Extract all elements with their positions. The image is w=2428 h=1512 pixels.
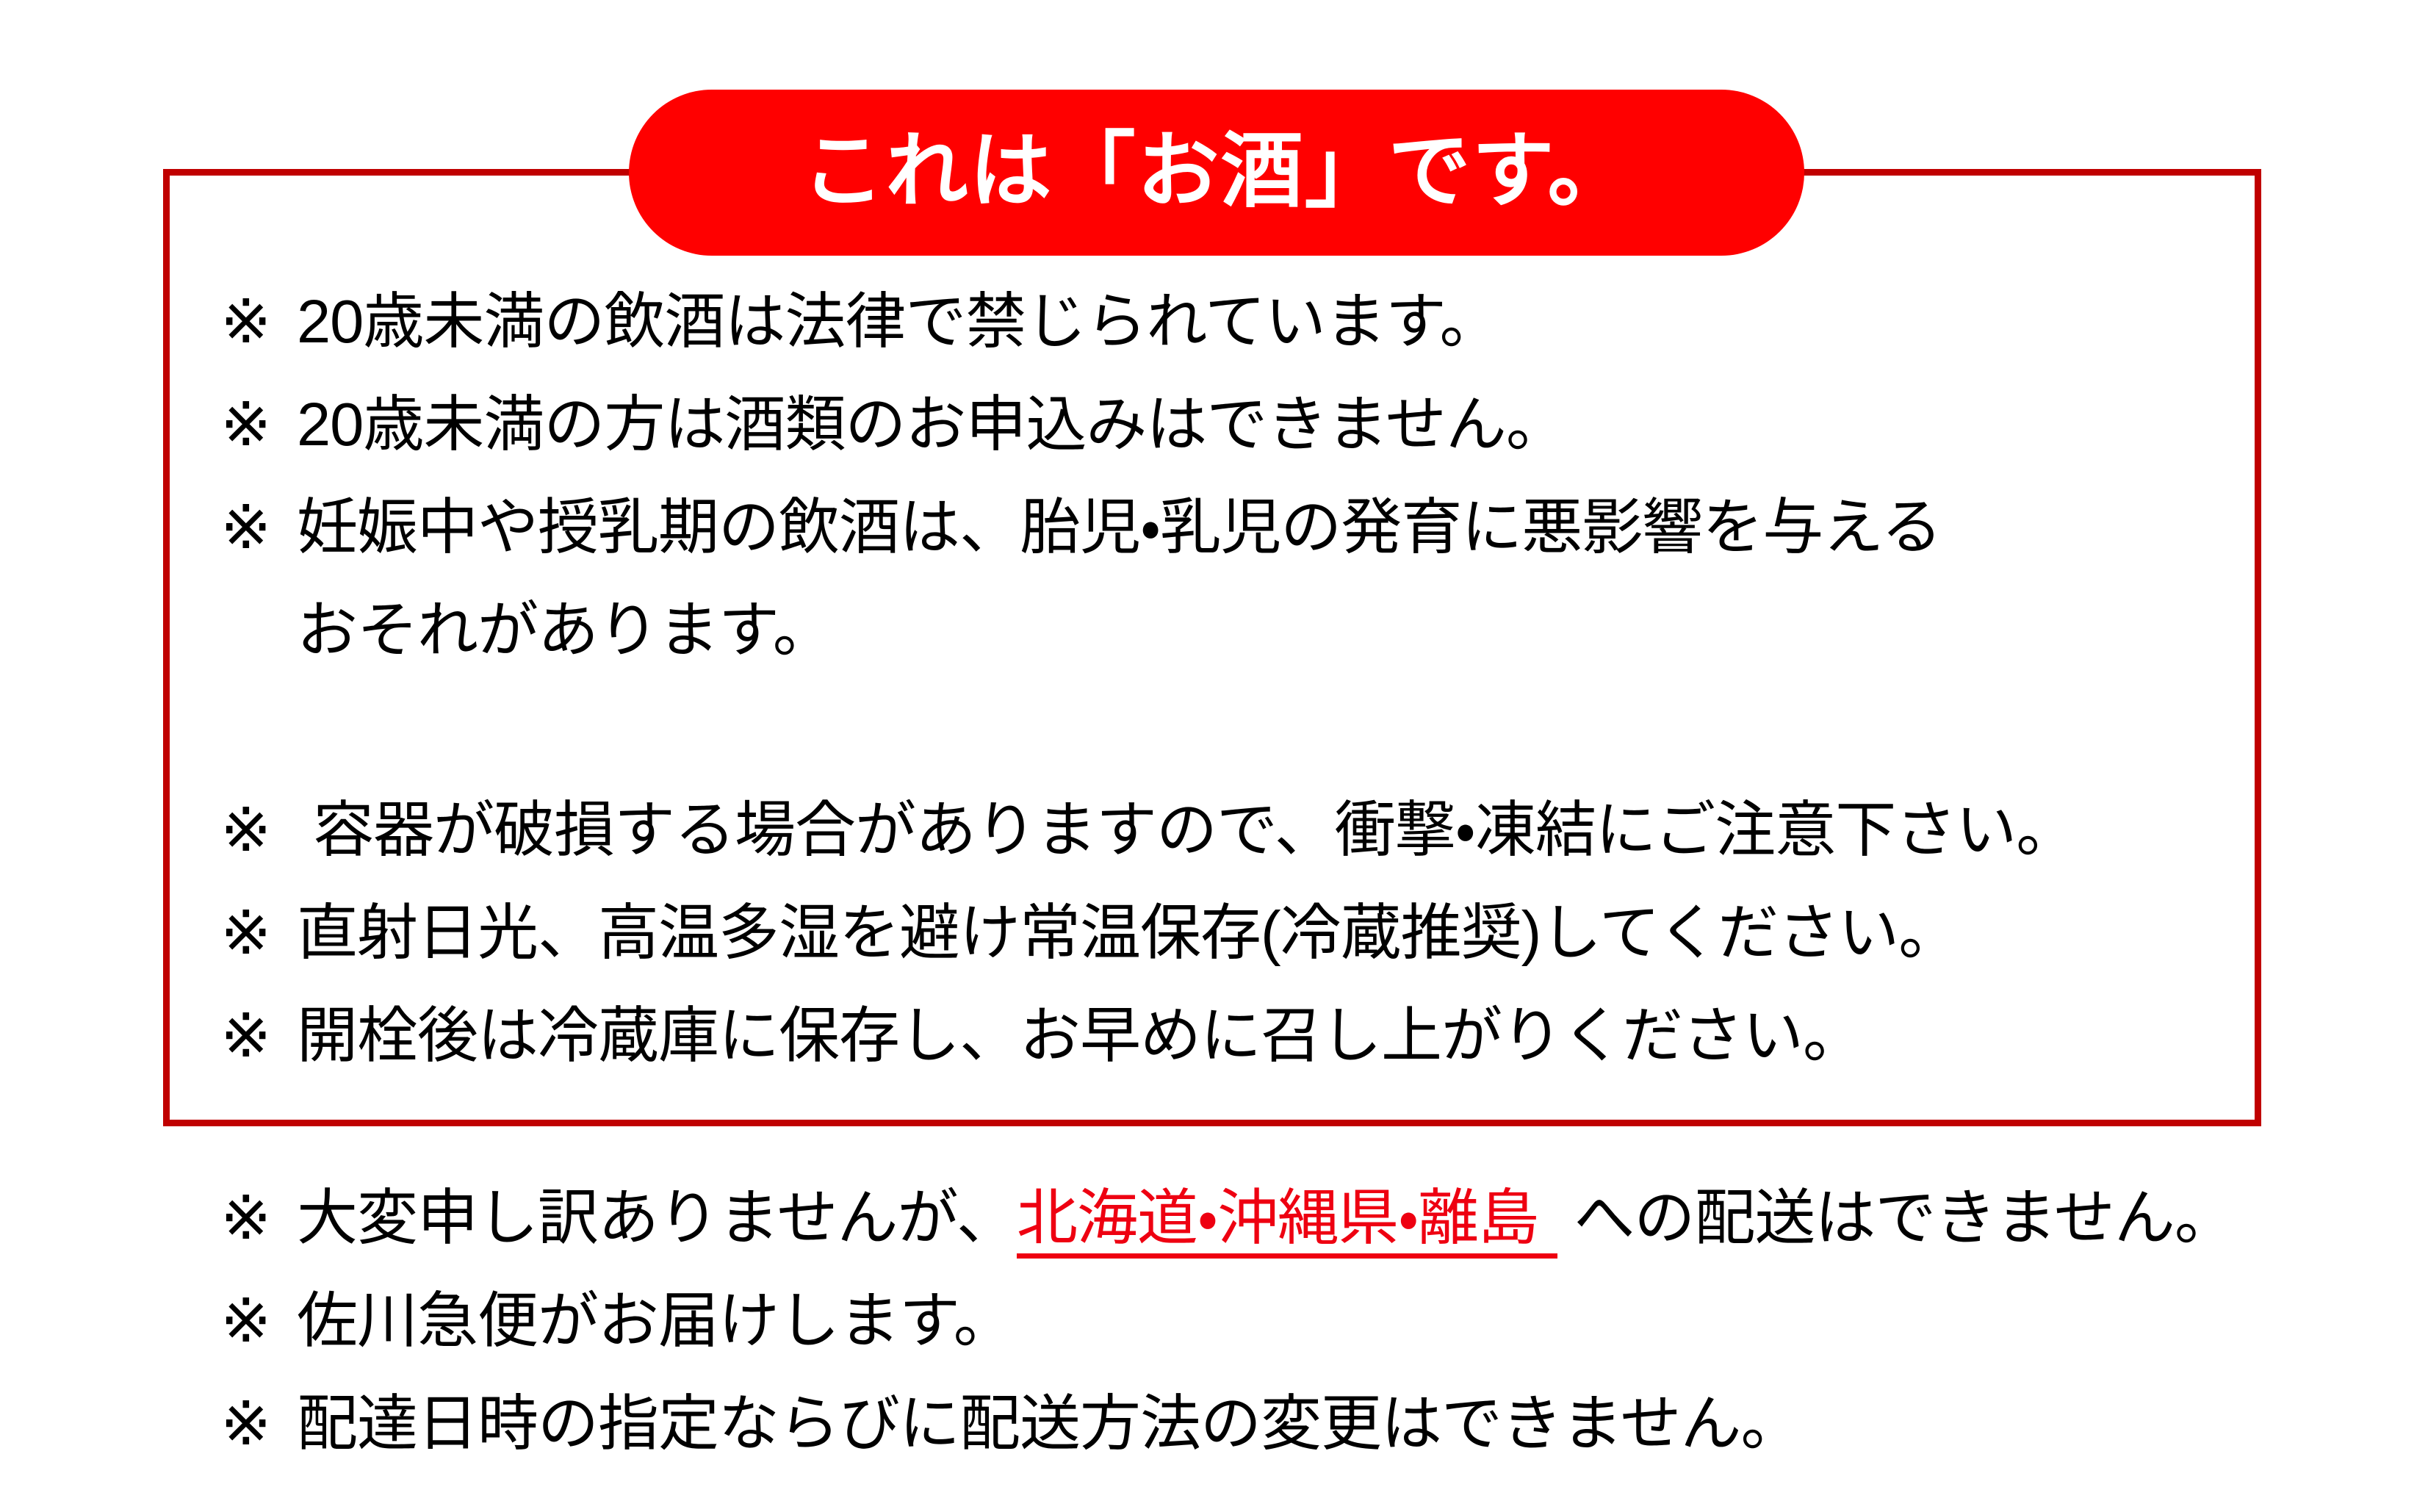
carrier-line: ※ 佐川急便がお届けします。 [220, 1270, 2235, 1372]
reference-mark-icon: ※ [220, 270, 297, 373]
reference-mark-icon: ※ [220, 373, 297, 476]
delivery-change-text: 配達日時の指定ならびに配送方法の変更はできません。 [297, 1372, 1801, 1475]
reference-mark-icon: ※ [220, 882, 297, 984]
reference-mark-icon: ※ [220, 984, 297, 1087]
notice-line-text: 容器が破損する場合がありますので、衝撃・凍結にご注意下さい。 [313, 779, 2076, 882]
reference-mark-icon: ※ [220, 779, 313, 882]
notice-line: ※ 20歳未満の飲酒は法律で禁じられています。 [220, 270, 1942, 373]
badge-title-text: これは「お酒」です。 [802, 130, 1632, 212]
notice-line: ※ 直射日光、高温多湿を避け常温保存(冷蔵推奨)してください。 [220, 882, 2076, 984]
shipping-exclusion-text: 大変申し訳ありませんが、北海道・沖縄県・離島 への配送はできません。 [297, 1167, 2235, 1270]
age-restriction-notice-group: ※ 20歳未満の飲酒は法律で禁じられています。 ※ 20歳未満の方は酒類のお申込… [220, 270, 1942, 682]
notice-line-text: 開栓後は冷蔵庫に保存し、お早めに召し上がりください。 [297, 984, 1863, 1087]
notice-line-text: 20歳未満の方は酒類のお申込みはできません。 [297, 373, 1566, 476]
notice-line: ※ 20歳未満の方は酒類のお申込みはできません。 [220, 373, 1942, 476]
notice-line-text: 20歳未満の飲酒は法律で禁じられています。 [297, 270, 1500, 373]
notice-line-text: 妊娠中や授乳期の飲酒は、胎児・乳児の発育に悪影響を与える [297, 476, 1942, 579]
reference-mark-icon: ※ [220, 1270, 297, 1372]
notice-line-text: おそれがあります。 [297, 579, 833, 682]
alcohol-notice-badge: これは「お酒」です。 [629, 90, 1804, 256]
reference-mark-icon: ※ [220, 476, 297, 579]
shipping-exclusion-suffix: への配送はできません。 [1557, 1184, 2235, 1252]
notice-line: ※ 容器が破損する場合がありますので、衝撃・凍結にご注意下さい。 [220, 779, 2076, 882]
reference-mark-icon: ※ [220, 1372, 297, 1475]
reference-mark-spacer: ※ [220, 579, 297, 682]
notice-line: ※ 開栓後は冷蔵庫に保存し、お早めに召し上がりください。 [220, 984, 2076, 1087]
carrier-text: 佐川急便がお届けします。 [297, 1270, 1014, 1372]
notice-line: ※ 妊娠中や授乳期の飲酒は、胎児・乳児の発育に悪影響を与える [220, 476, 1942, 579]
storage-notice-group: ※ 容器が破損する場合がありますので、衝撃・凍結にご注意下さい。 ※ 直射日光、… [220, 779, 2076, 1087]
delivery-change-line: ※ 配達日時の指定ならびに配送方法の変更はできません。 [220, 1372, 2235, 1475]
notice-line-continuation: ※ おそれがあります。 [220, 579, 1942, 682]
shipping-exclusion-prefix: 大変申し訳ありませんが、 [297, 1184, 1017, 1252]
shipping-exclusion-line: ※ 大変申し訳ありませんが、北海道・沖縄県・離島 への配送はできません。 [220, 1167, 2235, 1270]
excluded-regions-emphasis: 北海道・沖縄県・離島 [1017, 1184, 1557, 1259]
reference-mark-icon: ※ [220, 1167, 297, 1270]
shipping-notice-group: ※ 大変申し訳ありませんが、北海道・沖縄県・離島 への配送はできません。 ※ 佐… [220, 1167, 2235, 1475]
notice-line-text: 直射日光、高温多湿を避け常温保存(冷蔵推奨)してください。 [297, 882, 1959, 984]
